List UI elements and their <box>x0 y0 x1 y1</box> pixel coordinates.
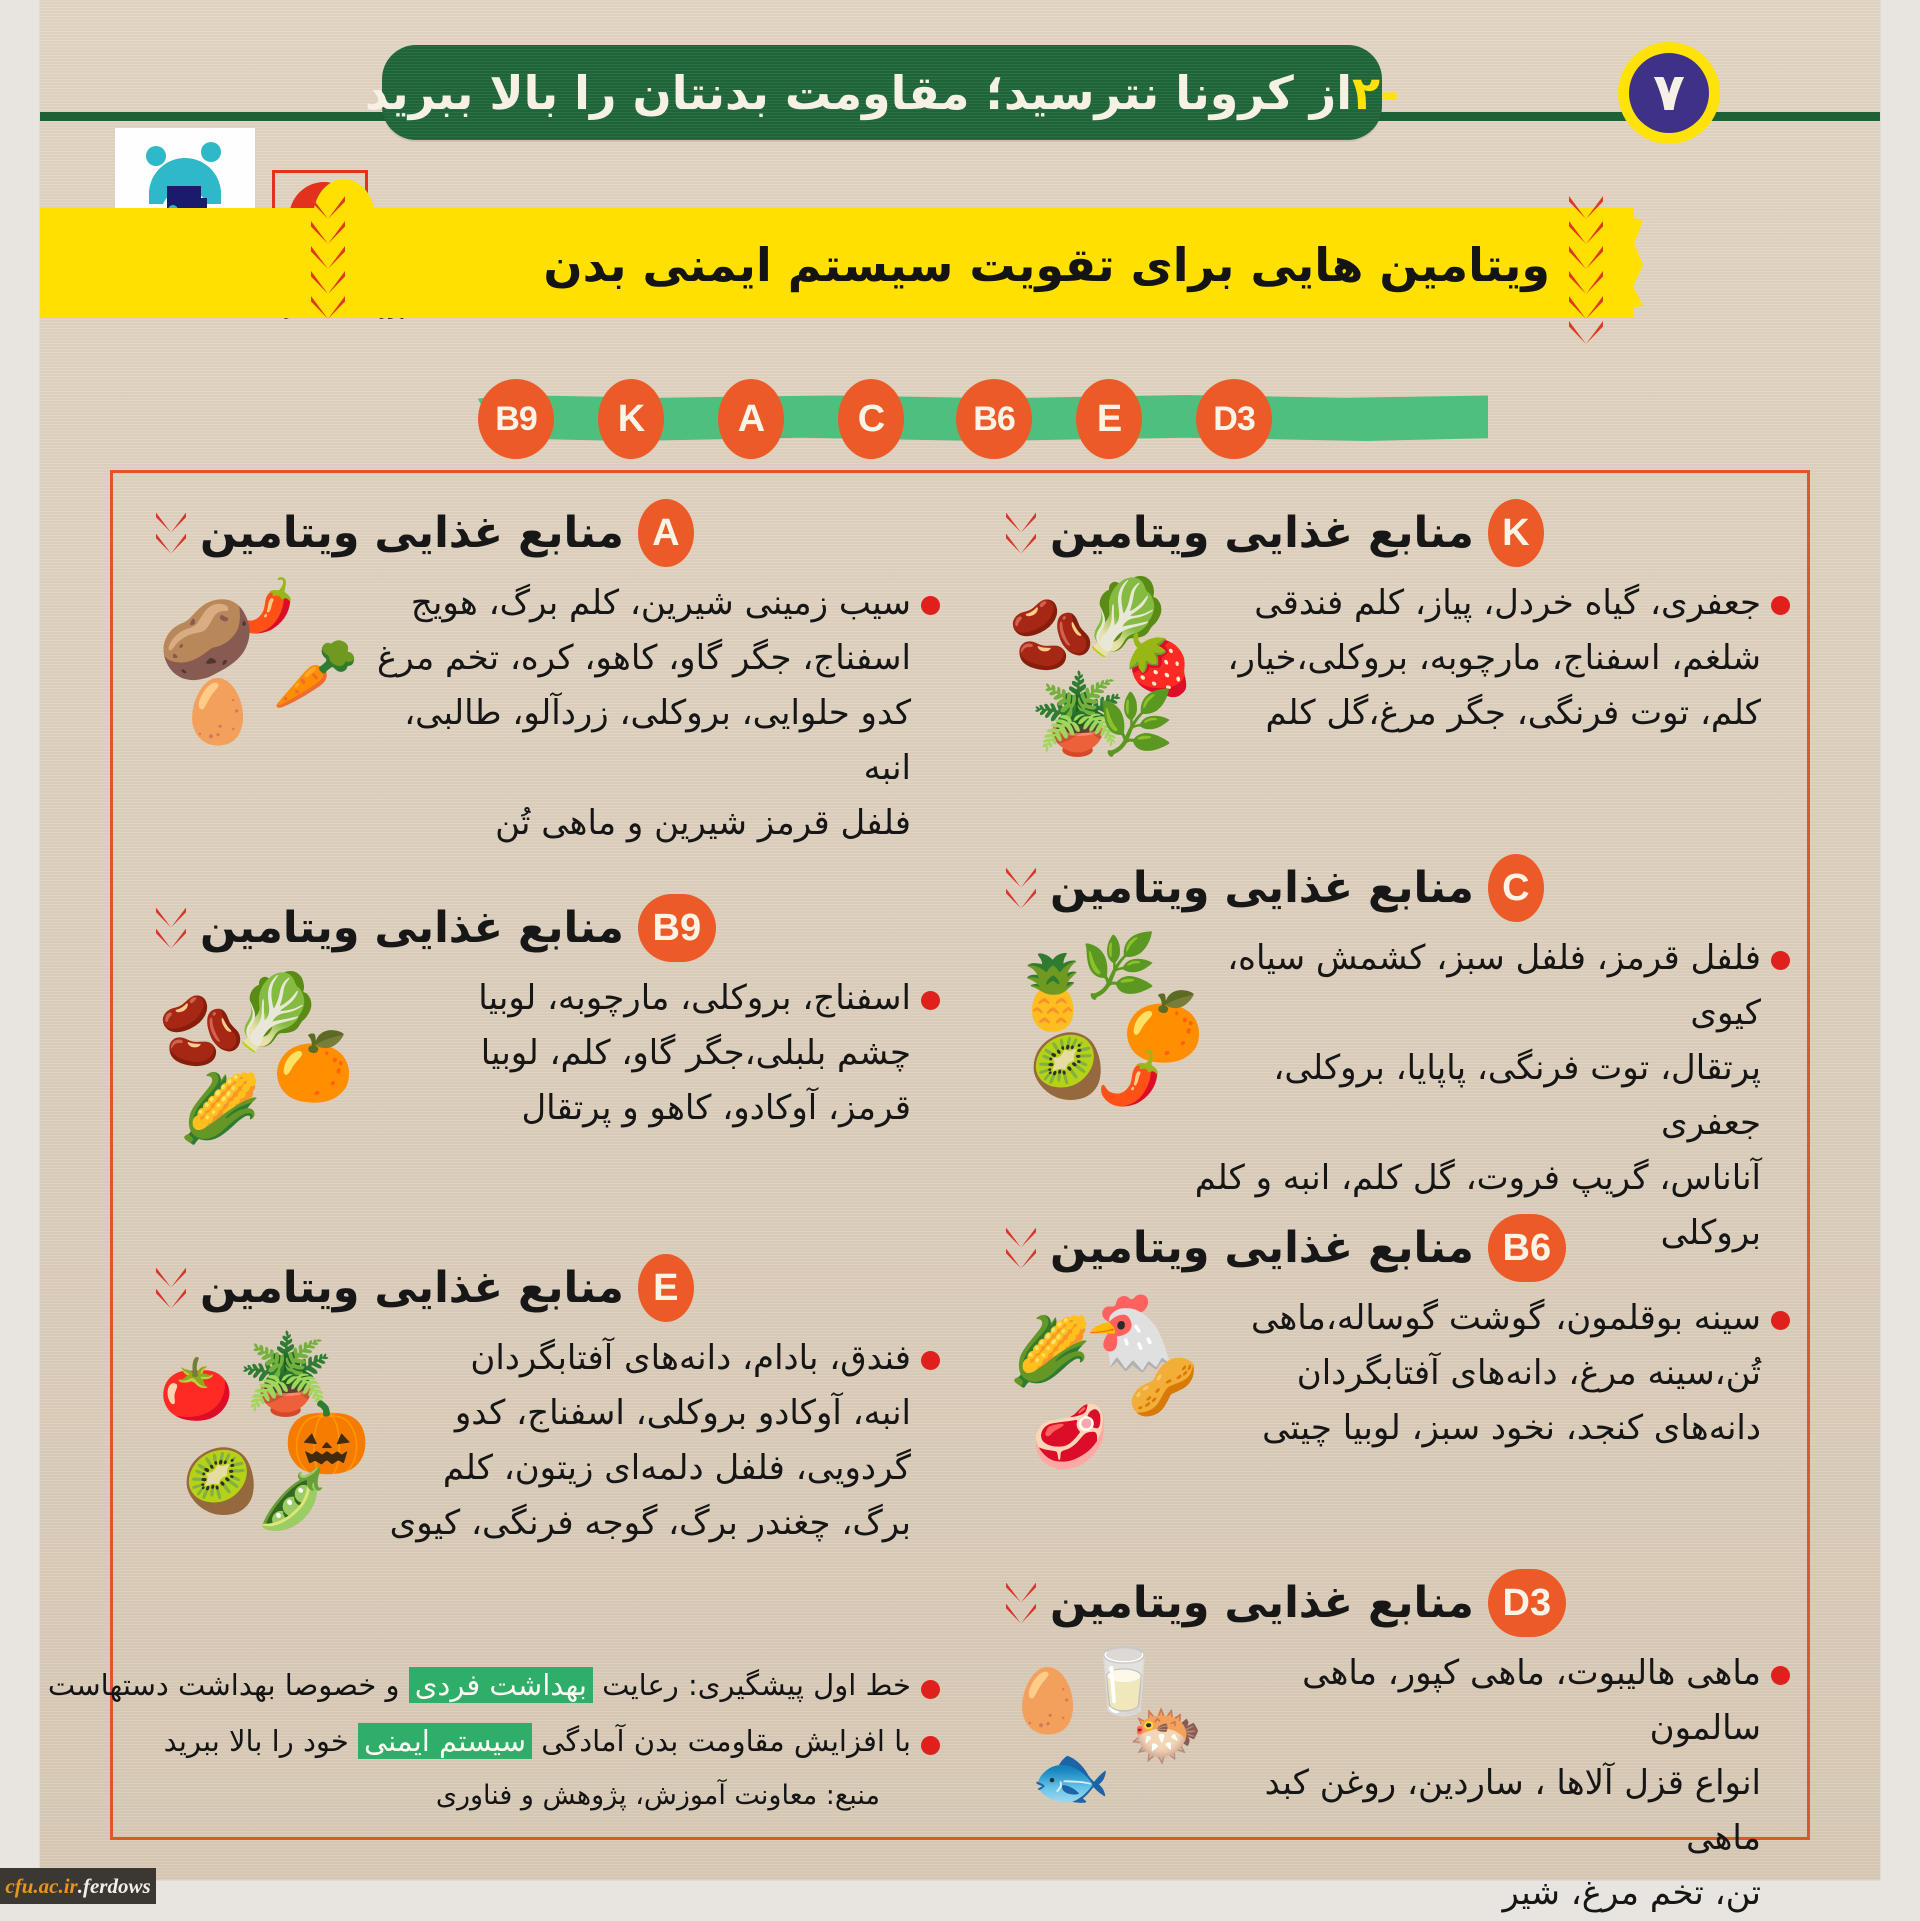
vitamin-section-b6: منابع غذایی ویتامینB6سینه بوقلمون، گوشت … <box>1000 1215 1790 1521</box>
section-text-b9: اسفناج، بروکلی، مارچوبه، لوبیاچشم بلبلی،… <box>360 971 911 1136</box>
section-line: ماهی هالیبوت، ماهی کپور، ماهی سالمون <box>1209 1646 1761 1756</box>
food-illustration: 🥬🫘🍓🪴🌿 <box>1000 576 1210 776</box>
section-title-k: منابع غذایی ویتامین <box>1050 508 1474 558</box>
section-text-k: جعفری، گیاه خردل، پیاز، کلم فندقیشلغم، ا… <box>1210 576 1761 741</box>
bullet-dot-icon <box>921 1351 940 1370</box>
section-badge-d3: D3 <box>1488 1569 1566 1637</box>
section-line: فلفل قرمز، فلفل سبز، کشمش سیاه، کیوی <box>1180 931 1761 1041</box>
liver-icon: 🫘 <box>1008 600 1095 670</box>
section-title-b9: منابع غذایی ویتامین <box>200 903 624 953</box>
bullet-dot-icon <box>1771 1311 1790 1330</box>
section-body-a: سیب زمینی شیرین، کلم برگ، هویجاسفناج، جگ… <box>150 576 940 851</box>
plain-phrase: با افزایش مقاومت بدن آمادگی <box>532 1724 911 1758</box>
watermark-part2: cfu.ac.ir <box>5 1874 77 1899</box>
chevron-down-icon <box>1006 1228 1036 1269</box>
section-badge-a: A <box>638 499 694 567</box>
vitamin-pill-a: A <box>718 379 784 459</box>
vitamin-section-b9: منابع غذایی ویتامینB9اسفناج، بروکلی، مار… <box>150 895 940 1181</box>
chevron-down-icon <box>1006 513 1036 554</box>
egg-icon: 🥚 <box>179 681 256 743</box>
section-header-c: منابع غذایی ویتامینC <box>1000 855 1790 921</box>
bullet-dot-icon <box>921 991 940 1010</box>
egg-icon: 🥚 <box>1009 1670 1086 1732</box>
vitamin-section-d3: منابع غذایی ویتامینD3ماهی هالیبوت، ماهی … <box>1000 1570 1790 1921</box>
section-line: برگ، چغندر برگ، گوجه فرنگی، کیوی <box>380 1496 911 1551</box>
section-line: گردویی، فلفل دلمه‌ای زیتون، کلم <box>380 1441 911 1496</box>
section-header-b6: منابع غذایی ویتامینB6 <box>1000 1215 1790 1281</box>
section-badge-b6: B6 <box>1488 1214 1566 1282</box>
section-text-d3: ماهی هالیبوت، ماهی کپور، ماهی سالمونانوا… <box>1209 1646 1761 1921</box>
food-illustration: 🥬🫘🍊🌽 <box>150 971 360 1181</box>
bullet-dot-icon <box>1771 1666 1790 1685</box>
vitamin-section-k: منابع غذایی ویتامینKجعفری، گیاه خردل، پی… <box>1000 500 1790 776</box>
vitamin-pill-d3: D3 <box>1196 379 1272 459</box>
chevron-down-icon <box>156 908 186 949</box>
vitamin-pill-c: C <box>838 379 904 459</box>
section-line: کلم، توت فرنگی، جگر مرغ،گل کلم <box>1210 686 1761 741</box>
food-illustration: 🌿🍍🍊🥝🌶️ <box>1000 931 1180 1141</box>
potato-icon: 🥔 <box>158 601 255 679</box>
beans-icon: 🌽 <box>1009 1319 1091 1385</box>
pineapple-icon: 🍍 <box>1008 956 1098 1028</box>
seeds-icon: 🥜 <box>1128 1360 1198 1416</box>
section-header-a: منابع غذایی ویتامینA <box>150 500 940 566</box>
section-body-c: فلفل قرمز، فلفل سبز، کشمش سیاه، کیویپرتق… <box>1000 931 1790 1261</box>
kiwi-icon: 🥝 <box>182 1451 259 1513</box>
section-title-b6: منابع غذایی ویتامین <box>1050 1223 1474 1273</box>
source-line: منبع: معاونت آموزش، پژوهش و فناوری <box>436 1780 880 1811</box>
section-line: اسفناج، بروکلی، مارچوبه، لوبیا <box>360 971 911 1026</box>
section-line: پرتقال، توت فرنگی، پاپایا، بروکلی، جعفری <box>1180 1041 1761 1151</box>
page-title: -۲ از کرونا نترسید؛ مقاومت بدنتان را بال… <box>382 45 1382 140</box>
section-line: انبه، آوکادو بروکلی، اسفناج، کدو <box>380 1386 911 1441</box>
section-body-e: فندق، بادام، دانه‌های آفتابگردانانبه، آو… <box>150 1331 940 1571</box>
section-line: دانه‌های کنجد، نخود سبز، لوبیا چیتی <box>1220 1401 1761 1456</box>
fish-blue-icon: 🐟 <box>1031 1746 1111 1810</box>
poster-canvas: -۲ از کرونا نترسید؛ مقاومت بدنتان را بال… <box>40 0 1880 1880</box>
vitamin-pill-e: E <box>1076 379 1142 459</box>
vitamin-section-e: منابع غذایی ویتامینEفندق، بادام، دانه‌ها… <box>150 1255 940 1571</box>
chevron-down-icon <box>156 513 186 554</box>
chevron-down-icon <box>1006 868 1036 909</box>
food-illustration: 🪴🍅🎃🥝🫛 <box>150 1331 380 1571</box>
section-header-e: منابع غذایی ویتامینE <box>150 1255 940 1321</box>
band-chevron-group-icon <box>1564 196 1608 344</box>
nuts-icon: 🫛 <box>256 1470 328 1528</box>
plain-phrase: خط اول پیشگیری: رعایت <box>593 1668 911 1702</box>
section-line: تُن،سینه مرغ، دانه‌های آفتابگردان <box>1220 1346 1761 1401</box>
chili-icon: 🌶️ <box>1097 1053 1162 1105</box>
fish-pink-icon: 🐡 <box>1128 1706 1203 1766</box>
section-title-e: منابع غذایی ویتامین <box>200 1263 624 1313</box>
plain-phrase: و خصوصا بهداشت دستهاست <box>48 1668 409 1702</box>
section-line: اسفناج، جگر گاو، کاهو، کره، تخم مرغ <box>356 631 911 686</box>
liver-icon: 🫘 <box>158 996 245 1066</box>
section-body-b6: سینه بوقلمون، گوشت گوساله،ماهیتُن،سینه م… <box>1000 1291 1790 1521</box>
section-text-a: سیب زمینی شیرین، کلم برگ، هویجاسفناج، جگ… <box>356 576 911 851</box>
vitamin-pill-b6: B6 <box>956 379 1032 459</box>
section-body-d3: ماهی هالیبوت، ماهی کپور، ماهی سالمونانوا… <box>1000 1646 1790 1921</box>
pumpkin-icon: 🎃 <box>283 1403 370 1473</box>
section-line: کدو حلوایی، بروکلی، زردآلو، طالبی، انبه <box>356 686 911 796</box>
section-badge-c: C <box>1488 854 1544 922</box>
section-text-e: فندق، بادام، دانه‌های آفتابگردانانبه، آو… <box>380 1331 911 1551</box>
kiwi-icon: 🥝 <box>1029 1036 1106 1098</box>
band-title: ویتامین هایی برای تقویت سیستم ایمنی بدن <box>390 222 1550 308</box>
food-illustration: 🥛🥚🐡🐟 <box>1000 1646 1209 1846</box>
footnote-2: با افزایش مقاومت بدن آمادگی سیستم ایمنی … <box>164 1724 940 1758</box>
chevron-down-icon <box>156 1268 186 1309</box>
bullet-dot-icon <box>921 1736 940 1755</box>
section-body-k: جعفری، گیاه خردل، پیاز، کلم فندقیشلغم، ا… <box>1000 576 1790 776</box>
highlighted-phrase: بهداشت فردی <box>409 1667 593 1703</box>
highlighted-phrase: سیستم ایمنی <box>358 1723 532 1759</box>
bullet-dot-icon <box>1771 596 1790 615</box>
meat-icon: 🥩 <box>1031 1406 1108 1468</box>
page-number-badge: ۷ <box>1618 42 1720 144</box>
page-title-number: -۲ <box>1352 66 1399 120</box>
section-header-k: منابع غذایی ویتامینK <box>1000 500 1790 566</box>
section-line: شلغم، اسفناج، مارچوبه، بروکلی،خیار، <box>1210 631 1761 686</box>
watermark-part1: ferdows. <box>78 1874 151 1899</box>
section-line: سینه بوقلمون، گوشت گوساله،ماهی <box>1220 1291 1761 1346</box>
beans-icon: 🌽 <box>179 1076 261 1142</box>
bullet-dot-icon <box>921 596 940 615</box>
section-text-c: فلفل قرمز، فلفل سبز، کشمش سیاه، کیویپرتق… <box>1180 931 1761 1261</box>
section-line: چشم بلبلی،جگر گاو، کلم، لوبیا <box>360 1026 911 1081</box>
section-header-d3: منابع غذایی ویتامینD3 <box>1000 1570 1790 1636</box>
vitamin-pill-k: K <box>598 379 664 459</box>
vitamin-pill-b9: B9 <box>478 379 554 459</box>
page-title-text: از کرونا نترسید؛ مقاومت بدنتان را بالا ب… <box>365 66 1352 120</box>
section-badge-e: E <box>638 1254 694 1322</box>
carrot-icon: 🥕 <box>272 639 359 709</box>
section-line: فندق، بادام، دانه‌های آفتابگردان <box>380 1331 911 1386</box>
orange-icon: 🍊 <box>272 1034 354 1100</box>
footnote-text: خط اول پیشگیری: رعایت بهداشت فردی و خصوص… <box>48 1668 911 1702</box>
vitamin-section-c: منابع غذایی ویتامینCفلفل قرمز، فلفل سبز،… <box>1000 855 1790 1261</box>
section-text-b6: سینه بوقلمون، گوشت گوساله،ماهیتُن،سینه م… <box>1220 1291 1761 1456</box>
vitamin-section-a: منابع غذایی ویتامینAسیب زمینی شیرین، کلم… <box>150 500 940 851</box>
section-body-b9: اسفناج، بروکلی، مارچوبه، لوبیاچشم بلبلی،… <box>150 971 940 1181</box>
section-badge-b9: B9 <box>638 894 716 962</box>
bullet-dot-icon <box>921 1680 940 1699</box>
plain-phrase: خود را بالا ببرید <box>164 1724 358 1758</box>
food-illustration: 🌶️🥔🥕🥚 <box>150 576 356 786</box>
section-line: جعفری، گیاه خردل، پیاز، کلم فندقی <box>1210 576 1761 631</box>
section-title-a: منابع غذایی ویتامین <box>200 508 624 558</box>
section-title-c: منابع غذایی ویتامین <box>1050 863 1474 913</box>
footnote-1: خط اول پیشگیری: رعایت بهداشت فردی و خصوص… <box>48 1668 940 1702</box>
tomato-icon: 🍅 <box>159 1360 234 1420</box>
site-watermark: ferdows.cfu.ac.ir <box>0 1868 156 1904</box>
footnote-text: با افزایش مقاومت بدن آمادگی سیستم ایمنی … <box>164 1724 911 1758</box>
section-line: قرمز، آوکادو، کاهو و پرتقال <box>360 1081 911 1136</box>
section-line: انواع قزل آلاها ، ساردین، روغن کبد ماهی <box>1209 1756 1761 1866</box>
chevron-down-icon <box>1006 1583 1036 1624</box>
section-header-b9: منابع غذایی ویتامینB9 <box>150 895 940 961</box>
section-badge-k: K <box>1488 499 1544 567</box>
band-chevron-group-right-icon <box>306 196 350 319</box>
food-illustration: 🐔🌽🥜🥩 <box>1000 1291 1220 1521</box>
bullet-dot-icon <box>1771 951 1790 970</box>
section-line: فلفل قرمز شیرین و ماهی تُن <box>356 796 911 851</box>
section-line: سیب زمینی شیرین، کلم برگ، هویج <box>356 576 911 631</box>
section-line: تن، تخم مرغ، شیر <box>1209 1866 1761 1921</box>
page-number-value: ۷ <box>1653 67 1685 119</box>
section-title-d3: منابع غذایی ویتامین <box>1050 1578 1474 1628</box>
parsley-icon: 🌿 <box>1097 692 1174 754</box>
